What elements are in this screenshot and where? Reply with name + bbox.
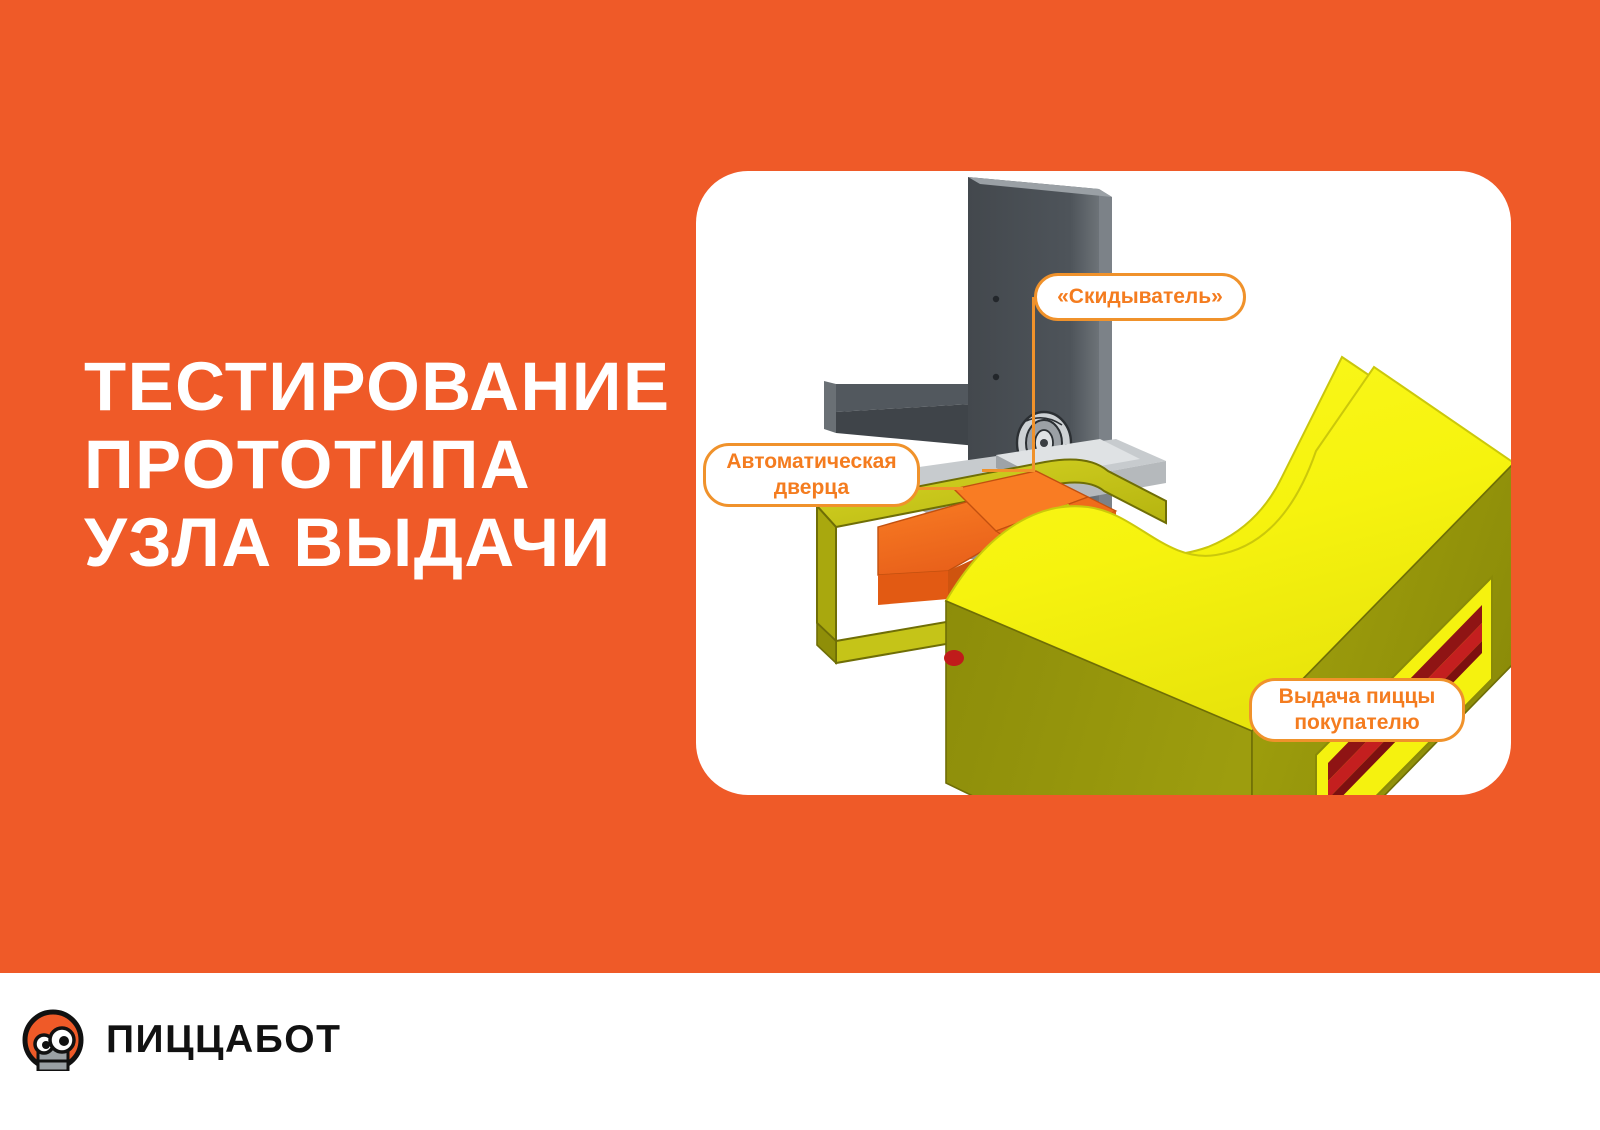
callout-pizza-output-label: Выдача пиццы покупателю: [1268, 684, 1446, 736]
page-title: ТЕСТИРОВАНИЕ ПРОТОТИПА УЗЛА ВЫДАЧИ: [84, 348, 724, 582]
footer-bar: ПИЦЦАБОТ: [0, 973, 1600, 1130]
callout-auto-door-label: Автоматическая дверца: [722, 449, 901, 501]
cad-part-rear-rail: [824, 381, 988, 447]
callout-pizza-output[interactable]: Выдача пиццы покупателю: [1249, 678, 1465, 742]
page-title-line-3: УЗЛА ВЫДАЧИ: [84, 504, 724, 582]
connector-skidyvatel-horizontal: [982, 469, 1034, 472]
page-title-line-1: ТЕСТИРОВАНИЕ: [84, 348, 724, 426]
connector-door-horizontal: [918, 487, 963, 490]
callout-skidyvatel-label: «Скидыватель»: [1057, 284, 1223, 310]
callout-skidyvatel[interactable]: «Скидыватель»: [1034, 273, 1246, 321]
pizzabot-robot-face-icon: [22, 1009, 84, 1071]
brand-logo-text: ПИЦЦАБОТ: [106, 1020, 341, 1060]
connector-skidyvatel-vertical: [1032, 297, 1035, 472]
slide-root: ТЕСТИРОВАНИЕ ПРОТОТИПА УЗЛА ВЫДАЧИ: [0, 0, 1600, 1130]
brand-logo[interactable]: ПИЦЦАБОТ: [22, 1009, 341, 1071]
cad-part-door-catch: [944, 650, 964, 666]
page-title-line-2: ПРОТОТИПА: [84, 426, 724, 504]
callout-auto-door[interactable]: Автоматическая дверца: [703, 443, 920, 507]
